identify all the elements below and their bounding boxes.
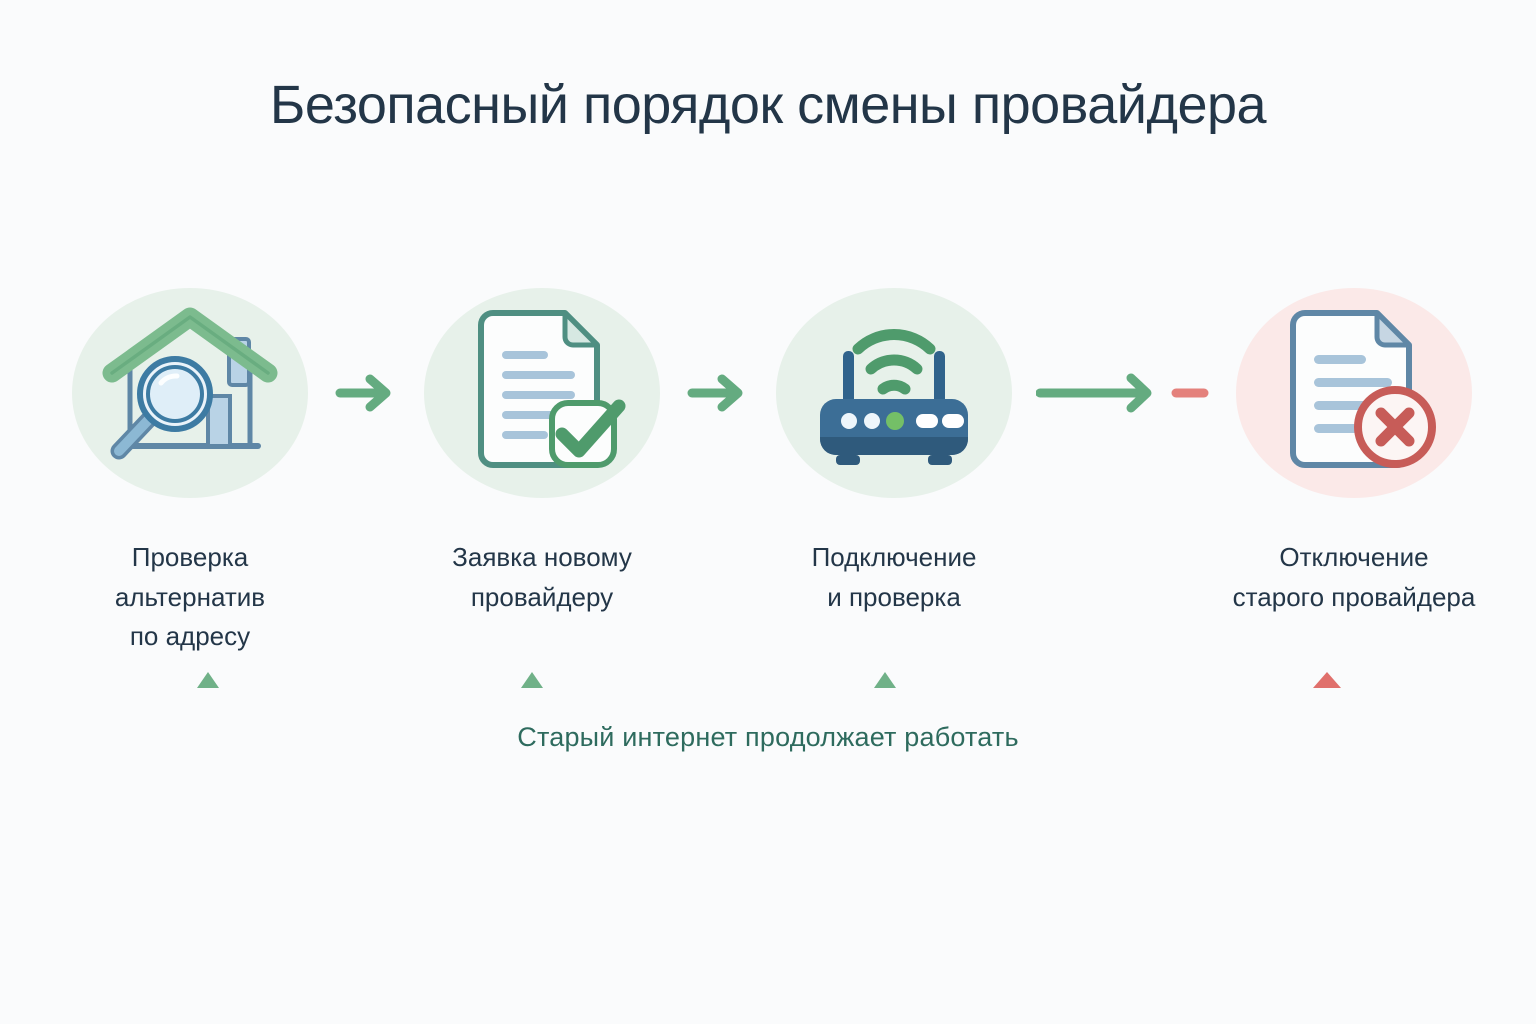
infographic-canvas: Безопасный порядок смены провайдера [0,0,1536,1024]
step-2-label: Заявка новому провайдеру [452,538,632,617]
step-connection-and-test[interactable]: Подключение и проверка [764,288,1024,617]
document-cancel-icon [1259,303,1449,483]
document-check-icon [447,303,637,483]
page-title: Безопасный порядок смены провайдера [0,74,1536,136]
timeline-tick-3 [874,672,896,688]
router-wifi-icon [789,303,999,483]
connector-arrow-1-2 [320,288,412,498]
step-4-icon-circle [1236,288,1472,498]
step-disconnect-old-provider[interactable]: Отключение старого провайдера [1224,288,1484,617]
arrow-right-icon [334,370,398,416]
timeline-graphic [0,668,1536,728]
timeline-tick-4 [1313,672,1341,688]
timeline-tick-1 [197,672,219,688]
house-magnifier-icon [90,303,290,483]
step-check-alternatives[interactable]: Проверка альтернатив по адресу [60,288,320,657]
step-1-icon-circle [72,288,308,498]
connector-arrow-3-4 [1024,288,1224,498]
timeline-caption: Старый интернет продолжает работать [0,722,1536,753]
arrow-right-icon [1036,370,1212,416]
connector-arrow-2-3 [672,288,764,498]
steps-row: Проверка альтернатив по адресу [60,288,1476,668]
step-4-label: Отключение старого провайдера [1233,538,1476,617]
arrow-right-icon [686,370,750,416]
timeline-bar [0,668,1536,728]
timeline-tick-2 [521,672,543,688]
step-3-label: Подключение и проверка [812,538,977,617]
step-1-label: Проверка альтернатив по адресу [115,538,265,657]
step-application-new-provider[interactable]: Заявка новому провайдеру [412,288,672,617]
step-3-icon-circle [776,288,1012,498]
step-2-icon-circle [424,288,660,498]
